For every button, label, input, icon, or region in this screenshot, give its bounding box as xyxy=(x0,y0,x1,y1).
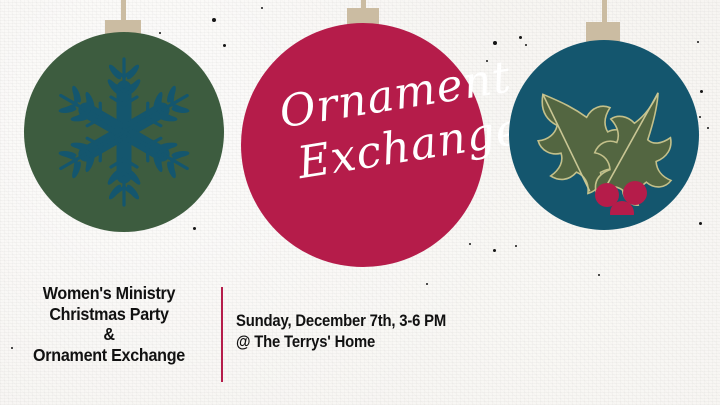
speck xyxy=(525,44,527,46)
headline-block: Women's Ministry Christmas Party & Ornam… xyxy=(14,283,204,365)
speck xyxy=(223,44,226,47)
headline-line-1: Women's Ministry xyxy=(14,283,204,304)
details-date-time: Sunday, December 7th, 3-6 PM xyxy=(236,311,446,332)
speck xyxy=(469,243,471,245)
speck xyxy=(11,347,13,349)
speck xyxy=(515,245,517,247)
speck xyxy=(193,227,196,230)
speck xyxy=(261,7,263,9)
speck xyxy=(159,32,161,34)
speck xyxy=(699,222,702,225)
speck xyxy=(426,283,428,285)
speck xyxy=(697,41,699,43)
details-location: @ The Terrys' Home xyxy=(236,332,446,353)
speck xyxy=(699,116,701,118)
snowflake-icon xyxy=(39,47,209,217)
holly-icon xyxy=(530,85,680,215)
speck xyxy=(212,18,216,22)
event-details-block: Sunday, December 7th, 3-6 PM @ The Terry… xyxy=(236,311,446,353)
speck xyxy=(700,90,703,93)
speck xyxy=(598,274,600,276)
headline-line-2: Christmas Party xyxy=(14,304,204,325)
headline-line-3: & xyxy=(14,324,204,345)
speck xyxy=(519,36,522,39)
speck xyxy=(493,41,497,45)
event-poster: Ornament Exchange Women's Ministry xyxy=(0,0,720,405)
headline-line-4: Ornament Exchange xyxy=(14,345,204,366)
speck xyxy=(493,249,496,252)
holly-berry xyxy=(623,181,647,205)
vertical-divider xyxy=(221,287,223,382)
speck xyxy=(707,127,709,129)
